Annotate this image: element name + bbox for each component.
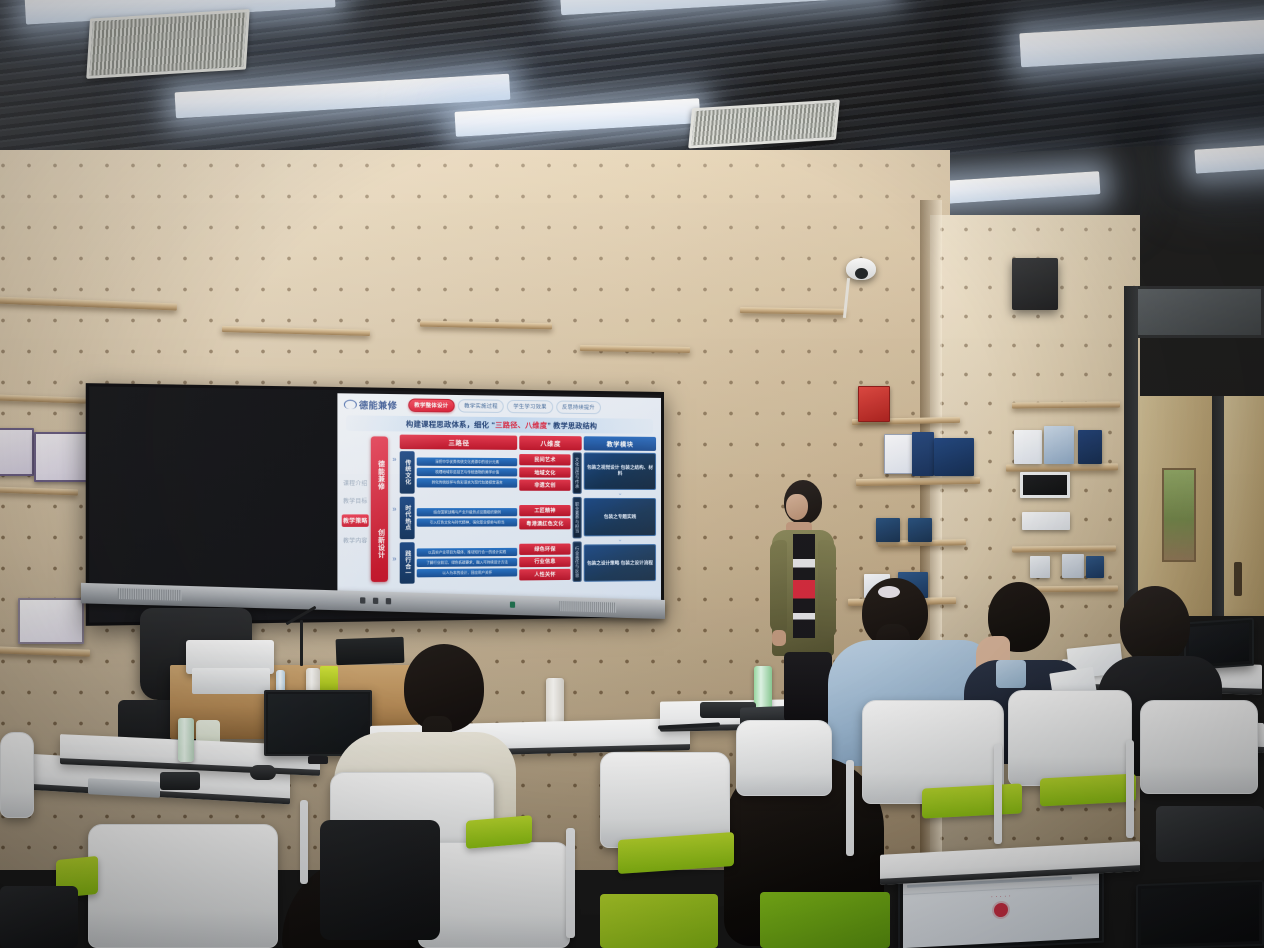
ceiling-light [1194,140,1264,173]
certificate-frame [0,428,34,476]
detail-bar: 以真实产业项目为载体，推动知行合一的设计实践 [417,547,517,556]
attendee-collar [996,660,1026,688]
modules-column-header: 教学模块 [584,437,656,451]
display-port[interactable] [510,602,515,608]
presenter-striped-top [793,534,815,638]
hair-tie [878,586,900,598]
path-details: 深挖中华优秀传统文化资源中的设计元素 梳理地域非遗技艺与传统造物的美学价值 转化… [417,451,517,584]
detail-bar: 转化传统纹样与色彩语言为现代包装视觉语言 [417,478,517,487]
dimension-group: 民间艺术 地域文化 非遗文创 [519,452,570,494]
door-frame [1124,286,1138,616]
detail-group: 以真实产业项目为载体，推动知行合一的设计实践 了解行业前沿、绿色低碳要求，融入可… [417,541,517,584]
brand-label: 德能兼修 [359,398,397,411]
dimension-human-care: 人性关怀 [519,569,570,580]
display-book [908,518,932,542]
door-panel [1224,396,1264,616]
display-speaker-grille [118,588,182,600]
classroom-chair[interactable] [1140,700,1258,794]
door-mullion [1212,396,1224,616]
classroom-scene: 德能兼修 教学整体设计 教学实施过程 学生学习效果 反思持续提升 构建课程思政体… [0,0,1264,948]
packaging-sample [1078,430,1102,464]
chair-leg [566,828,575,938]
display-port[interactable] [360,597,365,603]
dark-display-box [1020,472,1070,498]
water-bottle [178,718,194,762]
chair-leg [300,800,308,884]
side-item-course-intro[interactable]: 课程介绍 [342,479,369,487]
paths-column-header: 三路径 [400,435,517,450]
presenter-left-sleeve [770,540,787,632]
path-chip-practice: 践行合一 [400,542,415,584]
storage-box [192,668,270,694]
slide-body: 课程介绍 教学目标 教学策略 教学内容 德能兼修 创新设计 » » » 三路径 [337,434,661,589]
dimension-regional-culture: 地域文化 [519,467,570,478]
red-plaque [858,386,890,422]
side-item-strategy[interactable]: 教学策略 [342,514,369,527]
device-box [160,772,200,790]
product-card [1022,512,1070,530]
chevron-right-icon: » [392,456,396,463]
attendee-hair [1120,586,1190,664]
classroom-chair[interactable] [88,824,278,948]
wall-speaker-icon [1012,258,1058,310]
path-chip-current: 时代热点 [400,496,415,538]
display-book [912,432,934,476]
microphone-stand [300,620,303,666]
packaging-sample [1014,430,1042,464]
side-item-content[interactable]: 教学内容 [342,536,369,544]
chair-seat-cushion [1040,773,1136,806]
chair-leg [1126,740,1134,838]
slide-nav-tabs[interactable]: 教学整体设计 教学实施过程 学生学习效果 反思持续提升 [408,398,601,414]
slide-spine-banner: 德能兼修 创新设计 [371,437,388,583]
chair-armrest-stack [1156,806,1264,862]
dimension-group: 工匠精神 粤港澳红色文化 [519,496,570,538]
door-transom [1128,286,1264,338]
product-sample [1030,556,1050,578]
dimension-heritage-creative: 非遗文创 [519,480,570,491]
dimension-green-eco: 绿色环保 [519,544,570,555]
dark-bag [0,886,78,948]
dimension-group: 绿色环保 行业信息 人性关怀 [519,541,570,583]
detail-bar: 以人为本的设计，回应用户关怀 [417,568,517,577]
dimensions-column-header: 八维度 [519,436,581,450]
chair-seat-cushion [466,815,532,849]
title-prefix: 构建课程思政体系，细化 “ [406,421,495,429]
tab-learning-outcome[interactable]: 学生学习效果 [507,400,553,414]
chevron-right-icon: » [392,506,396,513]
camera-lens-icon [855,268,868,279]
classroom-chair[interactable] [418,842,570,948]
slide-title: 构建课程思政体系，细化 “三路径、八维度” 教学思政结构 [346,416,653,435]
connector-profession: 职业素养与担当 [573,497,582,538]
connector-label: 行业责任与反思 [574,546,580,577]
dimension-industry-info: 行业信息 [519,556,570,567]
classroom-chair[interactable] [0,732,34,818]
path-chip-tradition: 传统文化 [400,451,415,493]
detail-group: 深挖中华优秀传统文化资源中的设计元素 梳理地域非遗技艺与传统造物的美学价值 转化… [417,451,517,493]
chair-seat-cushion [600,894,718,948]
tab-implementation[interactable]: 教学实施过程 [458,399,504,413]
detail-bar: 结合国家战略与产业升级热点议题组织案例 [417,508,517,517]
module-visual-design: 包装之视觉设计 包装之结构、材料 [584,452,656,490]
title-highlight: 三路径、八维度 [495,422,547,430]
coat-on-chair [320,820,440,940]
flow-arrows: » » » [391,435,397,584]
product-sample [1062,554,1084,578]
door-handle-icon[interactable] [1234,562,1242,596]
display-speaker-grille [559,601,616,613]
presenter-trousers [784,652,832,722]
connector-culture: 文化自信与传承 [573,452,582,493]
dimensions-list: 民间艺术 地域文化 非遗文创 工匠精神 粤港澳红色文化 绿色环保 行业信息 [519,452,570,583]
path-label: 时代热点 [403,505,412,531]
chevron-right-icon: » [392,556,396,563]
foreground-laptop-right[interactable] [1136,880,1264,948]
chevron-down-icon: ⌄ [584,538,656,543]
connector-industry: 行业责任与反思 [573,541,582,582]
detail-group: 结合国家战略与产业升级热点议题组织案例 引入红色文化与时代精神，强化职业使命与担… [417,496,517,538]
door-vision-panel [1162,468,1196,562]
product-sample [1086,556,1104,578]
title-suffix: ” 教学思政结构 [547,423,597,431]
chair-seat-cushion [760,892,890,948]
brand-icon [344,400,357,410]
slide-brand: 德能兼修 [344,398,397,411]
wall-shelf [1012,545,1116,552]
side-item-objectives[interactable]: 教学目标 [342,497,369,505]
slide-side-nav[interactable]: 课程介绍 教学目标 教学策略 教学内容 [342,434,369,584]
packaging-sample [1044,426,1074,464]
classroom-chair[interactable] [736,720,832,796]
detail-bar: 了解行业前沿、绿色低碳要求，融入可持续设计方法 [417,558,517,567]
dimension-folk-art: 民间艺术 [519,454,570,465]
presentation-slide: 德能兼修 教学整体设计 教学实施过程 学生学习效果 反思持续提升 构建课程思政体… [337,393,661,607]
certificate-frame [18,598,84,644]
path-label: 践行合一 [403,550,412,576]
wall-shelf [1012,401,1120,408]
chair-seat-cushion [922,783,1022,818]
module-topic-practice: 包装之专题实践 [584,498,656,536]
tab-overall-design[interactable]: 教学整体设计 [408,398,455,412]
dimension-red-culture: 粤港澳红色文化 [519,518,570,529]
detail-bar: 梳理地域非遗技艺与传统造物的美学价值 [417,468,517,477]
connector-labels: 文化自信与传承 职业素养与担当 行业责任与反思 [573,452,582,582]
tab-reflection[interactable]: 反思持续提升 [556,400,601,414]
wall-shelf [1006,463,1118,471]
blue-2025-book [934,438,974,476]
display-port[interactable] [373,598,378,604]
certificate-frame [34,432,90,482]
path-label: 传统文化 [403,459,412,485]
hvac-vent [86,9,250,79]
display-book [876,518,900,542]
display-port[interactable] [386,598,391,604]
connector-label: 文化自信与传承 [574,457,580,488]
modules-list: 包装之视觉设计 包装之结构、材料 ⌄ 包装之专题实践 ⌄ 包装之设计策略 包装之… [584,452,656,582]
chair-leg [994,744,1002,844]
ppt-diagram-node [994,903,1008,918]
spine-label-1: 德能兼修 [376,460,383,490]
chair-leg [846,760,854,856]
award-certificate [884,434,914,474]
chevron-down-icon: ⌄ [584,492,656,496]
connector-label: 职业素养与担当 [574,502,580,533]
presenter-face [786,494,808,520]
detail-bar: 深挖中华优秀传统文化资源中的设计元素 [417,457,517,466]
dimension-craftsman-spirit: 工匠精神 [519,505,570,516]
module-design-strategy: 包装之设计策略 包装之设计流程 [584,544,656,582]
laptop-screen [1141,885,1259,945]
computer-mouse[interactable] [250,765,276,780]
slide-header: 德能兼修 教学整体设计 教学实施过程 学生学习效果 反思持续提升 [337,393,661,417]
classroom-chair[interactable] [1008,690,1132,786]
presenter-hand [772,630,786,646]
detail-bar: 引入红色文化与时代精神，强化职业使命与担当 [417,518,517,527]
paths-chips: 传统文化 时代热点 践行合一 [400,451,415,584]
spine-label-2: 创新设计 [376,529,383,559]
